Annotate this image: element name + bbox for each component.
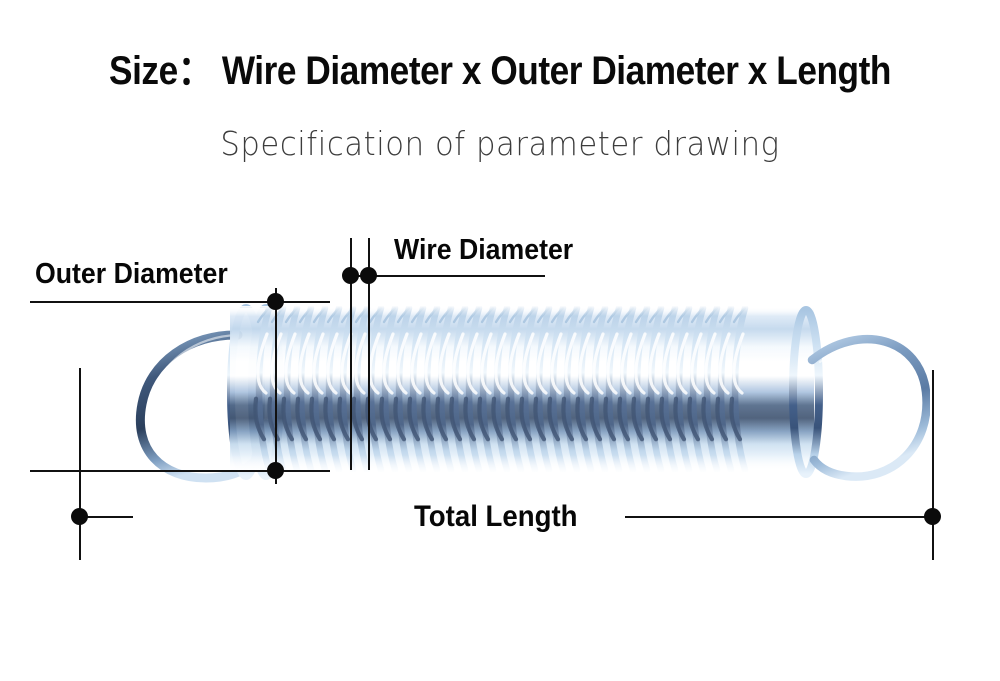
total-length-marker-left — [71, 508, 88, 525]
wire-diameter-label: Wire Diameter — [394, 234, 573, 267]
total-length-extension-left — [79, 368, 81, 560]
wire-diameter-marker-left — [342, 267, 359, 284]
total-length-marker-right — [924, 508, 941, 525]
page-title: Size： Wire Diameter x Outer Diameter x L… — [60, 38, 940, 96]
spring-svg — [70, 300, 930, 490]
extension-spring-illustration — [70, 300, 930, 490]
outer-diameter-marker-bottom — [267, 462, 284, 479]
spring-specification-diagram: Size： Wire Diameter x Outer Diameter x L… — [0, 0, 1000, 681]
total-length-dimension-line-right — [625, 516, 932, 518]
total-length-extension-right — [932, 370, 934, 560]
total-length-label: Total Length — [414, 500, 578, 534]
outer-diameter-label: Outer Diameter — [35, 258, 228, 291]
outer-diameter-bottom-leader — [30, 470, 330, 472]
spring-right-hook — [812, 339, 927, 476]
spring-body — [230, 306, 814, 472]
page-subtitle: Specification of parameter drawing — [35, 124, 965, 163]
wire-diameter-marker-right — [360, 267, 377, 284]
wire-diameter-leader — [350, 275, 545, 277]
outer-diameter-measure-line — [275, 288, 277, 484]
outer-diameter-marker-top — [267, 293, 284, 310]
outer-diameter-top-leader — [30, 301, 330, 303]
